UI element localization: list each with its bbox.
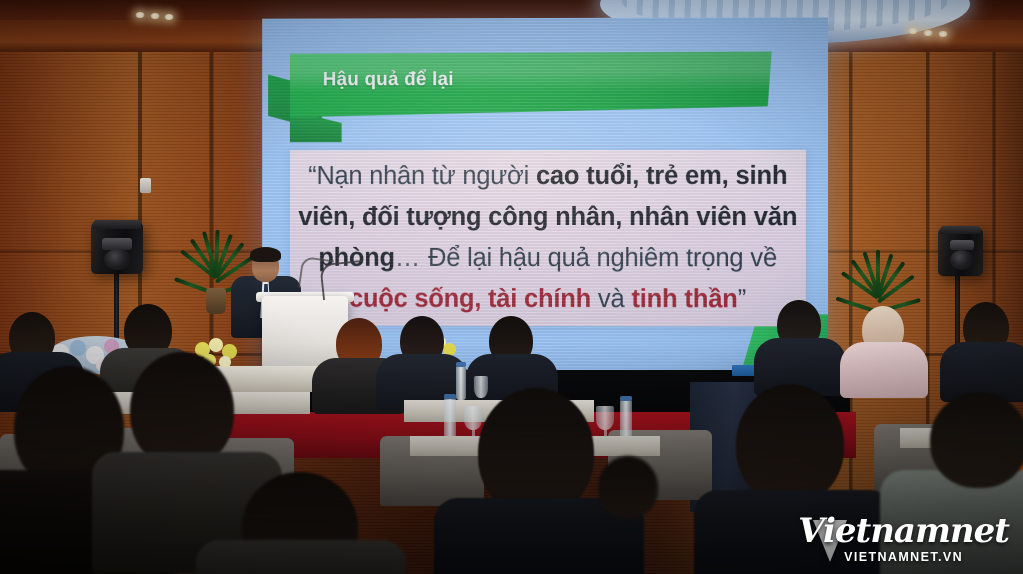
- vietnamnet-v-mark-icon: [813, 520, 847, 562]
- conference-photo: Hậu quả để lại “Nạn nhân từ người cao tu…: [0, 0, 1023, 574]
- image-vignette: [0, 0, 1023, 574]
